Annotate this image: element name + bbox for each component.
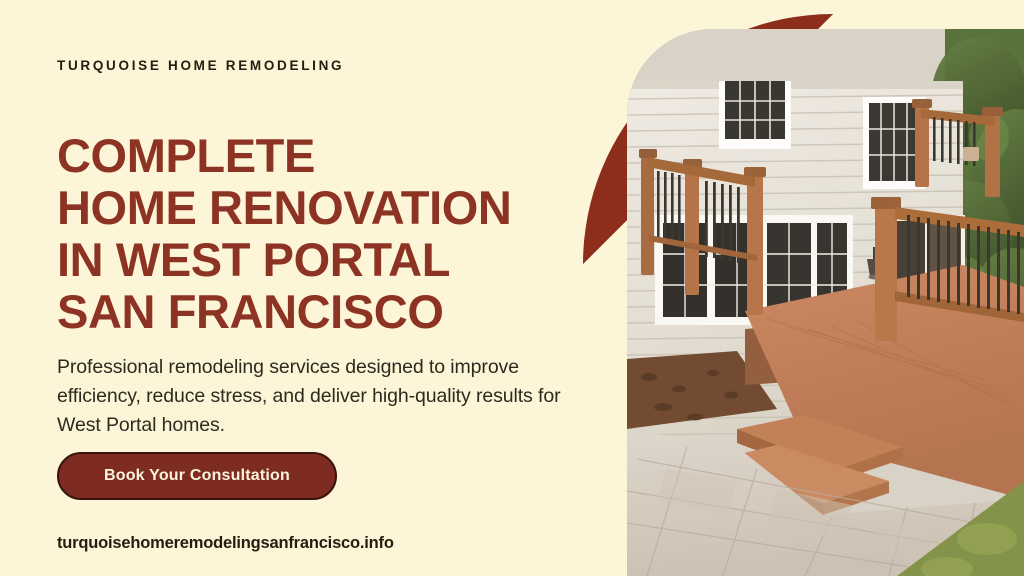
brand-name: TURQUOISE HOME REMODELING [57,58,344,73]
promotional-banner: TURQUOISE HOME REMODELING COMPLETE HOME … [0,0,1024,576]
headline-line-2: HOME RENOVATION [57,182,577,234]
headline-line-1: COMPLETE [57,130,577,182]
description-text: Professional remodeling services designe… [57,353,567,440]
content-column: TURQUOISE HOME REMODELING COMPLETE HOME … [57,0,587,576]
deck-renovation-photo [627,29,1024,576]
headline-line-3: IN WEST PORTAL [57,234,577,286]
book-consultation-button[interactable]: Book Your Consultation [57,452,337,500]
website-url[interactable]: turquoisehomeremodelingsanfrancisco.info [57,534,394,553]
headline-line-4: SAN FRANCISCO [57,286,577,338]
page-title: COMPLETE HOME RENOVATION IN WEST PORTAL … [57,130,577,338]
deck-photo-illustration [627,29,1024,576]
